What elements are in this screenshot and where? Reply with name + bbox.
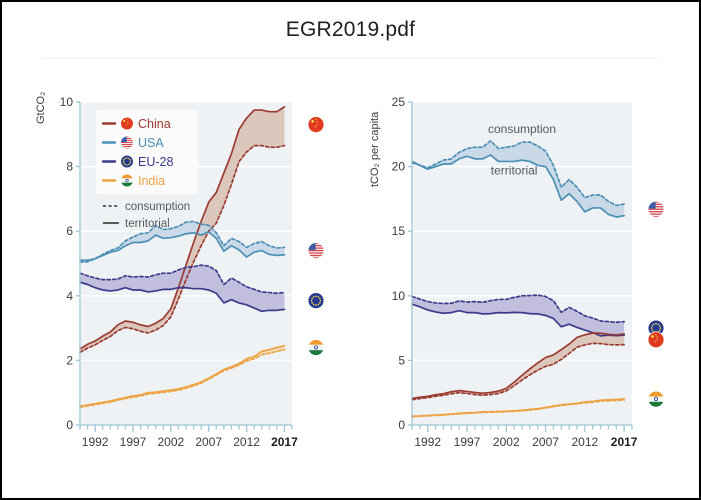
chart-svg-right: 0510152025199219972002200720122017tCO₂ p… [364,62,699,458]
y-tick-label: 10 [60,95,74,109]
x-axis: 199219972002200720122017 [412,425,638,449]
y-axis: 0510152025 [392,95,412,432]
y-axis: 0246810 [60,95,80,432]
annotation-territorial: territorial [491,163,538,177]
legend-label: EU-28 [138,155,173,169]
flag-china-icon [648,332,664,348]
y-tick-label: 6 [66,224,73,238]
x-tick-label: 1992 [82,435,109,449]
y-tick-label: 8 [66,160,73,174]
y-tick-label: 4 [66,289,73,303]
page-root: EGR2019.pdf 0246810199219972002200720122… [0,0,701,500]
x-tick-label: 2002 [493,435,520,449]
x-tick-label: 2007 [532,435,559,449]
y-tick-label: 2 [66,353,73,367]
flag-eu-icon [308,293,324,309]
chart-svg-left: 0246810199219972002200720122017GtCO₂Chin… [24,62,369,458]
flag-usa-icon [648,201,664,217]
annotation-consumption: consumption [488,122,556,136]
x-tick-label: 2017 [611,435,638,449]
flag-india-icon [308,339,324,355]
flag-usa-icon [121,136,134,149]
legend-style-label: territorial [125,218,170,230]
flag-markers [308,117,324,356]
legend-label: USA [138,136,164,150]
x-tick-label: 2012 [572,435,599,449]
flag-eu-icon [121,155,134,168]
y-axis-label: GtCO₂ [35,92,47,124]
flag-china-icon [308,117,324,133]
legend-style-label: consumption [125,201,190,213]
legend-label: China [138,117,171,131]
flag-india-icon [121,174,134,187]
x-tick-label: 2012 [233,435,260,449]
y-axis-label: tCO₂ per capita [369,111,381,187]
header-divider [42,58,659,59]
x-tick-label: 2007 [195,435,222,449]
y-tick-label: 10 [392,289,406,303]
x-tick-label: 1992 [414,435,441,449]
y-tick-label: 0 [66,418,73,432]
x-tick-label: 2017 [271,435,298,449]
chart-left-gtco2: 0246810199219972002200720122017GtCO₂Chin… [24,62,369,458]
chart-right-per-capita: 0510152025199219972002200720122017tCO₂ p… [364,62,699,458]
flag-markers [648,201,664,407]
x-axis: 199219972002200720122017 [80,425,298,449]
y-tick-label: 5 [398,353,405,367]
y-tick-label: 20 [392,160,406,174]
flag-india-icon [648,391,664,407]
y-tick-label: 0 [398,418,405,432]
legend-label: India [138,174,165,188]
x-tick-label: 2002 [158,435,185,449]
page-title: EGR2019.pdf [286,18,415,42]
charts-container: 0246810199219972002200720122017GtCO₂Chin… [2,62,699,458]
flag-china-icon [121,117,134,130]
document-header: EGR2019.pdf [2,2,699,58]
y-tick-label: 15 [392,224,406,238]
y-tick-label: 25 [392,95,406,109]
x-tick-label: 1997 [120,435,147,449]
flag-usa-icon [308,243,324,259]
x-tick-label: 1997 [454,435,481,449]
